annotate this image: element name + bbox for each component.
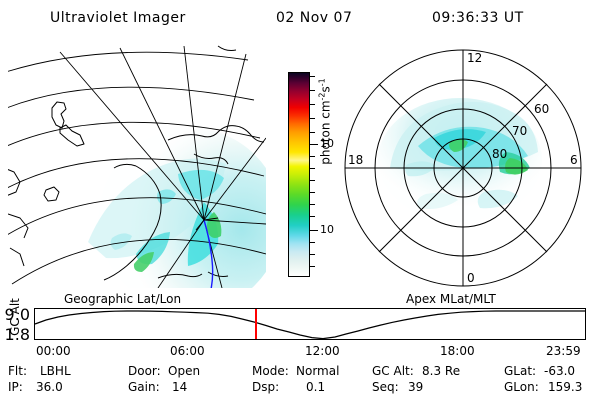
orbit-altitude-chart[interactable]: [34, 308, 586, 340]
status-value-gcalt: 8.3 Re: [422, 364, 460, 378]
status-value-door: Open: [168, 364, 200, 378]
colorbar-label-10: 10: [320, 224, 334, 235]
polar-mlt-spokes: [345, 50, 581, 286]
mlt-label-6: 6: [570, 153, 578, 167]
colorbar-tick-minor: [310, 156, 315, 157]
colorbar-tick-minor: [310, 168, 315, 169]
status-value-seq: 39: [408, 380, 423, 394]
mlat-label-70: 70: [512, 124, 527, 138]
mlat-label-60: 60: [534, 102, 549, 116]
mlat-label-80: 80: [492, 147, 507, 161]
status-value-mode: Normal: [296, 364, 339, 378]
colorbar-axis-label: photon cm-2s-1: [318, 57, 333, 187]
apex-polar-panel[interactable]: 12 6 0 18 60 70 80: [334, 42, 592, 288]
colorbar-tick-minor: [310, 132, 315, 133]
observation-time: 09:36:33 UT: [432, 10, 524, 26]
time-tick-3: 18:00: [440, 344, 475, 358]
colorbar-tick-minor: [310, 76, 315, 77]
orbit-altitude-curve: [34, 308, 586, 340]
status-value-dsp: 0.1: [306, 380, 325, 394]
colorbar-units-exp1: -2: [318, 92, 327, 100]
status-label-door: Door:: [128, 364, 161, 378]
colorbar-tick-minor: [310, 242, 315, 243]
status-label-ip: IP:: [8, 380, 23, 394]
status-value-glat: -63.0: [544, 364, 575, 378]
colorbar-tick-100: [310, 144, 318, 145]
status-label-mode: Mode:: [252, 364, 289, 378]
status-row: IP: 36.0 Gain: 14 Dsp: 0.1 Seq: 39 GLon:…: [8, 380, 598, 396]
status-label-gcalt: GC Alt:: [372, 364, 414, 378]
colorbar-tick-minor: [310, 266, 315, 267]
colorbar-tick-minor: [310, 216, 315, 217]
apex-polar-svg: 12 6 0 18 60 70 80: [334, 42, 592, 288]
time-tick-1: 06:00: [170, 344, 205, 358]
status-value-glon: 159.3: [548, 380, 582, 394]
status-label-dsp: Dsp:: [252, 380, 279, 394]
mlt-label-18: 18: [348, 153, 363, 167]
status-value-flt: LBHL: [40, 364, 71, 378]
time-tick-4: 23:59: [546, 344, 581, 358]
orbit-ytick-low: 1.8: [0, 325, 30, 344]
status-block: Flt: LBHL Door: Open Mode: Normal GC Alt…: [8, 364, 598, 398]
colorbar-tick-minor: [310, 254, 315, 255]
aurora-emission-apex: [378, 98, 542, 222]
apex-panel-caption: Apex MLat/MLT: [406, 292, 496, 306]
status-value-ip: 36.0: [36, 380, 63, 394]
colorbar-tick-minor: [310, 104, 315, 105]
observation-date: 02 Nov 07: [276, 10, 352, 26]
status-label-gain: Gain:: [128, 380, 160, 394]
colorbar-tick-minor: [310, 90, 315, 91]
orbit-ytick-high: 9.0: [0, 305, 30, 324]
colorbar-group: photon cm-2s-1 100 10: [268, 62, 334, 288]
geographic-map-svg: [8, 42, 266, 288]
status-label-glon: GLon:: [504, 380, 539, 394]
mlt-label-0: 0: [467, 271, 475, 285]
colorbar-tick-10: [310, 230, 318, 231]
geographic-panel-caption: Geographic Lat/Lon: [64, 292, 181, 306]
colorbar-units-main: photon cm: [319, 100, 333, 164]
colorbar-tick-minor: [310, 180, 315, 181]
colorbar-units-mid: s: [319, 86, 333, 92]
colorbar-tick-minor: [310, 118, 315, 119]
mlt-label-12: 12: [467, 51, 482, 65]
colorbar-tick-minor: [310, 192, 315, 193]
status-value-gain: 14: [172, 380, 187, 394]
colorbar-gradient: [288, 72, 310, 277]
instrument-title: Ultraviolet Imager: [50, 10, 186, 26]
time-tick-0: 00:00: [36, 344, 71, 358]
time-tick-2: 12:00: [305, 344, 340, 358]
colorbar-units-exp2: -1: [318, 78, 327, 86]
colorbar-tick-minor: [310, 204, 315, 205]
current-time-marker[interactable]: [255, 309, 257, 339]
header-bar: Ultraviolet Imager 02 Nov 07 09:36:33 UT: [0, 8, 600, 30]
status-label-seq: Seq:: [372, 380, 399, 394]
status-label-flt: Flt:: [8, 364, 27, 378]
status-row: Flt: LBHL Door: Open Mode: Normal GC Alt…: [8, 364, 598, 380]
status-label-glat: GLat:: [504, 364, 536, 378]
geographic-map-panel[interactable]: [8, 42, 266, 288]
